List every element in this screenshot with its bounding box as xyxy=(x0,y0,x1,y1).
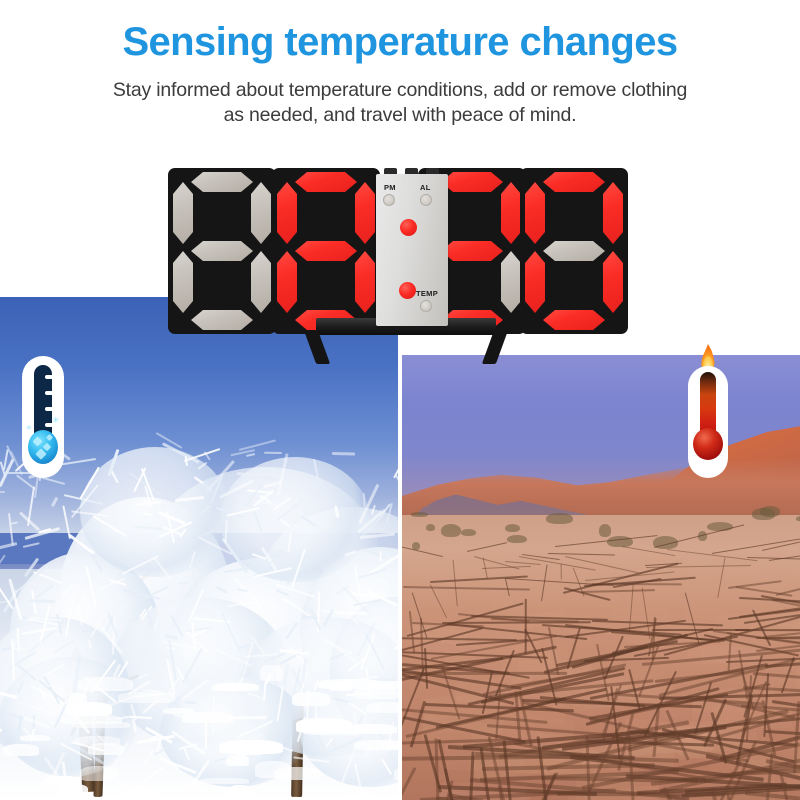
segment-face xyxy=(441,172,503,192)
snow-mound xyxy=(199,778,249,784)
earth-plate xyxy=(612,608,668,622)
snow-mound xyxy=(292,692,330,706)
segment-face xyxy=(355,251,375,313)
al-label: AL xyxy=(420,183,431,192)
al-indicator xyxy=(420,194,432,206)
desert-scrub xyxy=(441,524,461,537)
segment-b xyxy=(501,182,521,244)
hot-thermometer-bulb xyxy=(693,428,723,460)
frost-twig xyxy=(23,542,40,548)
desert-scrub xyxy=(599,524,611,536)
ice-crystal-4 xyxy=(46,434,53,441)
snow-mound xyxy=(118,692,175,702)
desert-scene-image xyxy=(402,355,800,800)
snow-mound xyxy=(366,702,398,714)
frost-twig xyxy=(29,599,55,603)
segment-face xyxy=(251,182,271,244)
colon-dot-bottom xyxy=(399,282,416,299)
cold-tick-2 xyxy=(45,391,53,395)
snow-mound xyxy=(260,665,282,680)
segment-f xyxy=(525,182,545,244)
snow-mound xyxy=(368,681,398,689)
snow-mound xyxy=(212,683,259,692)
segment-e xyxy=(173,251,193,313)
desert-scrub xyxy=(426,524,435,531)
desert-scrub xyxy=(505,524,520,533)
digit-segments-2 xyxy=(272,168,380,334)
segment-face xyxy=(277,251,297,313)
snow-mound xyxy=(229,785,251,798)
clock-stand-leg-right xyxy=(482,330,508,364)
segment-face xyxy=(525,182,545,244)
ice-crystal-1 xyxy=(33,437,43,447)
segment-d xyxy=(543,310,605,330)
segment-face xyxy=(543,172,605,192)
desert-scrub xyxy=(796,515,800,522)
segment-b xyxy=(603,182,623,244)
page-title: Sensing temperature changes xyxy=(0,18,800,66)
temp-indicator xyxy=(420,300,432,312)
product-feature-banner: Sensing temperature changes Stay informe… xyxy=(0,0,800,800)
desert-scrub xyxy=(411,512,428,517)
clock-digit-4 xyxy=(520,168,628,334)
frost-twig xyxy=(178,582,189,584)
segment-face xyxy=(191,172,253,192)
segment-a xyxy=(441,172,503,192)
snow-mound xyxy=(182,712,234,722)
snow-mound xyxy=(88,743,124,755)
frost-twig xyxy=(229,716,267,719)
cold-thermometer-icon: ✳ ✳ xyxy=(22,356,70,478)
snow-mound xyxy=(3,744,38,756)
segment-c xyxy=(501,251,521,313)
frost-twig xyxy=(332,452,355,456)
snowflake-icon-2: ✳ xyxy=(26,424,32,433)
segment-c xyxy=(355,251,375,313)
snow-mound xyxy=(78,677,133,691)
snow-mound xyxy=(343,794,371,800)
cold-thermometer-stem xyxy=(34,365,52,439)
segment-face xyxy=(501,251,521,313)
snow-mound xyxy=(72,721,130,728)
snow-mound xyxy=(65,702,112,716)
segment-g xyxy=(191,241,253,261)
segment-face xyxy=(603,182,623,244)
segment-face xyxy=(355,182,375,244)
subtitle-line-2: as needed, and travel with peace of mind… xyxy=(20,103,780,128)
segment-face xyxy=(295,241,357,261)
snow-mound xyxy=(128,786,147,794)
clock-stand-leg-left xyxy=(304,330,330,364)
segment-face xyxy=(295,172,357,192)
segment-a xyxy=(543,172,605,192)
page-subtitle: Stay informed about temperature conditio… xyxy=(20,78,780,128)
segment-face xyxy=(543,310,605,330)
earth-crack-vertical xyxy=(560,563,561,579)
snow-mound xyxy=(382,741,398,751)
segment-d xyxy=(191,310,253,330)
segment-face xyxy=(603,251,623,313)
segment-face xyxy=(277,182,297,244)
segment-f xyxy=(173,182,193,244)
clock-button-1[interactable] xyxy=(384,168,397,174)
segment-e xyxy=(277,251,297,313)
ice-crystal-2 xyxy=(43,443,51,451)
desert-scrub xyxy=(461,529,476,536)
header-block: Sensing temperature changes Stay informe… xyxy=(0,0,800,145)
segment-g xyxy=(543,241,605,261)
segment-b xyxy=(355,182,375,244)
segment-face xyxy=(543,241,605,261)
clock-digit-2 xyxy=(272,168,380,334)
clock-digit-1 xyxy=(168,168,276,334)
desert-scrub xyxy=(546,513,573,524)
segment-face xyxy=(191,310,253,330)
clock-center-panel: PM AL TEMP xyxy=(376,174,448,326)
snow-mound xyxy=(274,767,322,780)
frost-twig xyxy=(82,630,91,632)
frost-twig xyxy=(0,542,17,554)
cold-thermometer-bulb xyxy=(28,430,58,464)
snow-mound xyxy=(346,724,397,734)
panel-divider xyxy=(398,297,402,800)
led-digital-clock: PM AL TEMP xyxy=(168,168,633,364)
clock-button-2[interactable] xyxy=(405,168,418,174)
frost-twig xyxy=(185,701,196,704)
snowflake-icon-1: ✳ xyxy=(52,416,60,425)
digit-segments-4 xyxy=(520,168,628,334)
segment-face xyxy=(173,182,193,244)
hot-thermometer-icon xyxy=(684,344,734,478)
segment-c xyxy=(251,251,271,313)
desert-scrub xyxy=(507,535,527,543)
cold-tick-3 xyxy=(45,407,53,411)
segment-c xyxy=(603,251,623,313)
segment-face xyxy=(173,251,193,313)
clock-button-3[interactable] xyxy=(426,168,439,174)
snow-mound xyxy=(20,735,50,741)
desert-scrub xyxy=(752,508,775,520)
digit-segments-1 xyxy=(168,168,276,334)
subtitle-line-1: Stay informed about temperature conditio… xyxy=(20,78,780,103)
segment-a xyxy=(295,172,357,192)
segment-face xyxy=(501,182,521,244)
snow-mound xyxy=(80,766,118,780)
segment-e xyxy=(525,251,545,313)
clock-top-buttons[interactable] xyxy=(380,168,444,175)
segment-a xyxy=(191,172,253,192)
segment-g xyxy=(295,241,357,261)
segment-b xyxy=(251,182,271,244)
segment-face xyxy=(525,251,545,313)
cold-tick-1 xyxy=(45,375,53,379)
pm-label: PM xyxy=(384,183,396,192)
segment-f xyxy=(277,182,297,244)
colon-dot-top xyxy=(400,219,417,236)
snow-mound xyxy=(233,740,265,755)
snow-mound xyxy=(226,755,249,766)
segment-face xyxy=(191,241,253,261)
temp-label: TEMP xyxy=(416,289,438,298)
segment-face xyxy=(251,251,271,313)
segment-g xyxy=(441,241,503,261)
pm-indicator xyxy=(383,194,395,206)
snow-mound xyxy=(44,776,80,786)
segment-face xyxy=(441,241,503,261)
frost-twig xyxy=(379,551,382,563)
